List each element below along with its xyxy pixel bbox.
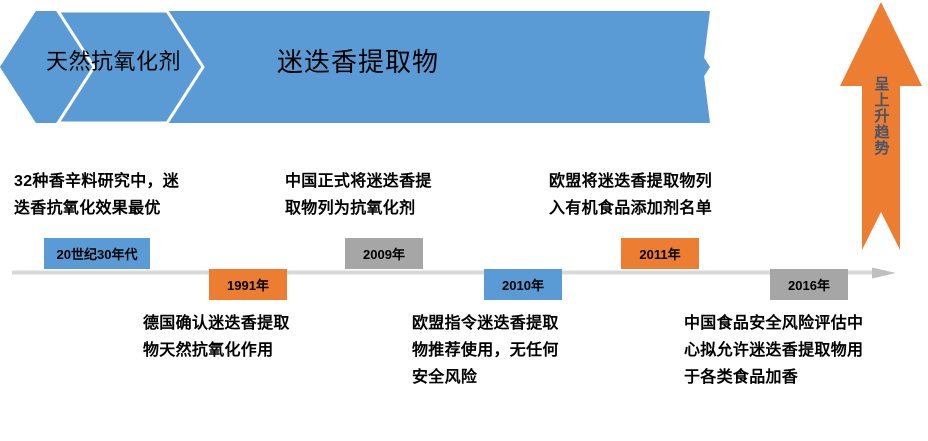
axis-arrowhead-icon <box>872 268 896 279</box>
timeline-note-2010: 欧盟指令迷迭香提取 物推荐使用，无任何 安全风险 <box>412 310 642 391</box>
banner-title-label: 迷迭香提取物 <box>277 47 439 77</box>
timeline-note-1930s: 32种香辛料研究中，迷 迭香抗氧化效果最优 <box>14 168 246 222</box>
timeline-chip-1930s[interactable]: 20世纪30年代 <box>44 238 150 269</box>
timeline-chip-2016[interactable]: 2016年 <box>770 269 848 300</box>
timeline-chip-1991[interactable]: 1991年 <box>209 269 287 300</box>
timeline-note-2016: 中国食品安全风险评估中 心拟允许迷迭香提取物用 于各类食品加香 <box>684 310 928 391</box>
timeline-note-2011: 欧盟将迷迭香提取物列 入有机食品添加剂名单 <box>549 168 799 222</box>
timeline-note-2009: 中国正式将迷迭香提 取物列为抗氧化剂 <box>285 168 505 222</box>
infographic-canvas: 天然抗氧化剂 迷迭香提取物 呈上升趋势 20世纪30年代 1991年 2009年… <box>0 0 928 441</box>
banner-category-label: 天然抗氧化剂 <box>46 49 236 75</box>
header-banner: 天然抗氧化剂 迷迭香提取物 <box>0 5 710 129</box>
timeline-note-1991: 德国确认迷迭香提取 物天然抗氧化作用 <box>143 310 373 364</box>
timeline-chip-2011[interactable]: 2011年 <box>621 238 699 269</box>
axis-line <box>12 271 874 275</box>
timeline-chip-2010[interactable]: 2010年 <box>484 269 562 300</box>
timeline-chip-2009[interactable]: 2009年 <box>345 238 423 269</box>
rising-trend-arrow: 呈上升趋势 <box>838 0 924 262</box>
rising-trend-label: 呈上升趋势 <box>872 76 891 156</box>
